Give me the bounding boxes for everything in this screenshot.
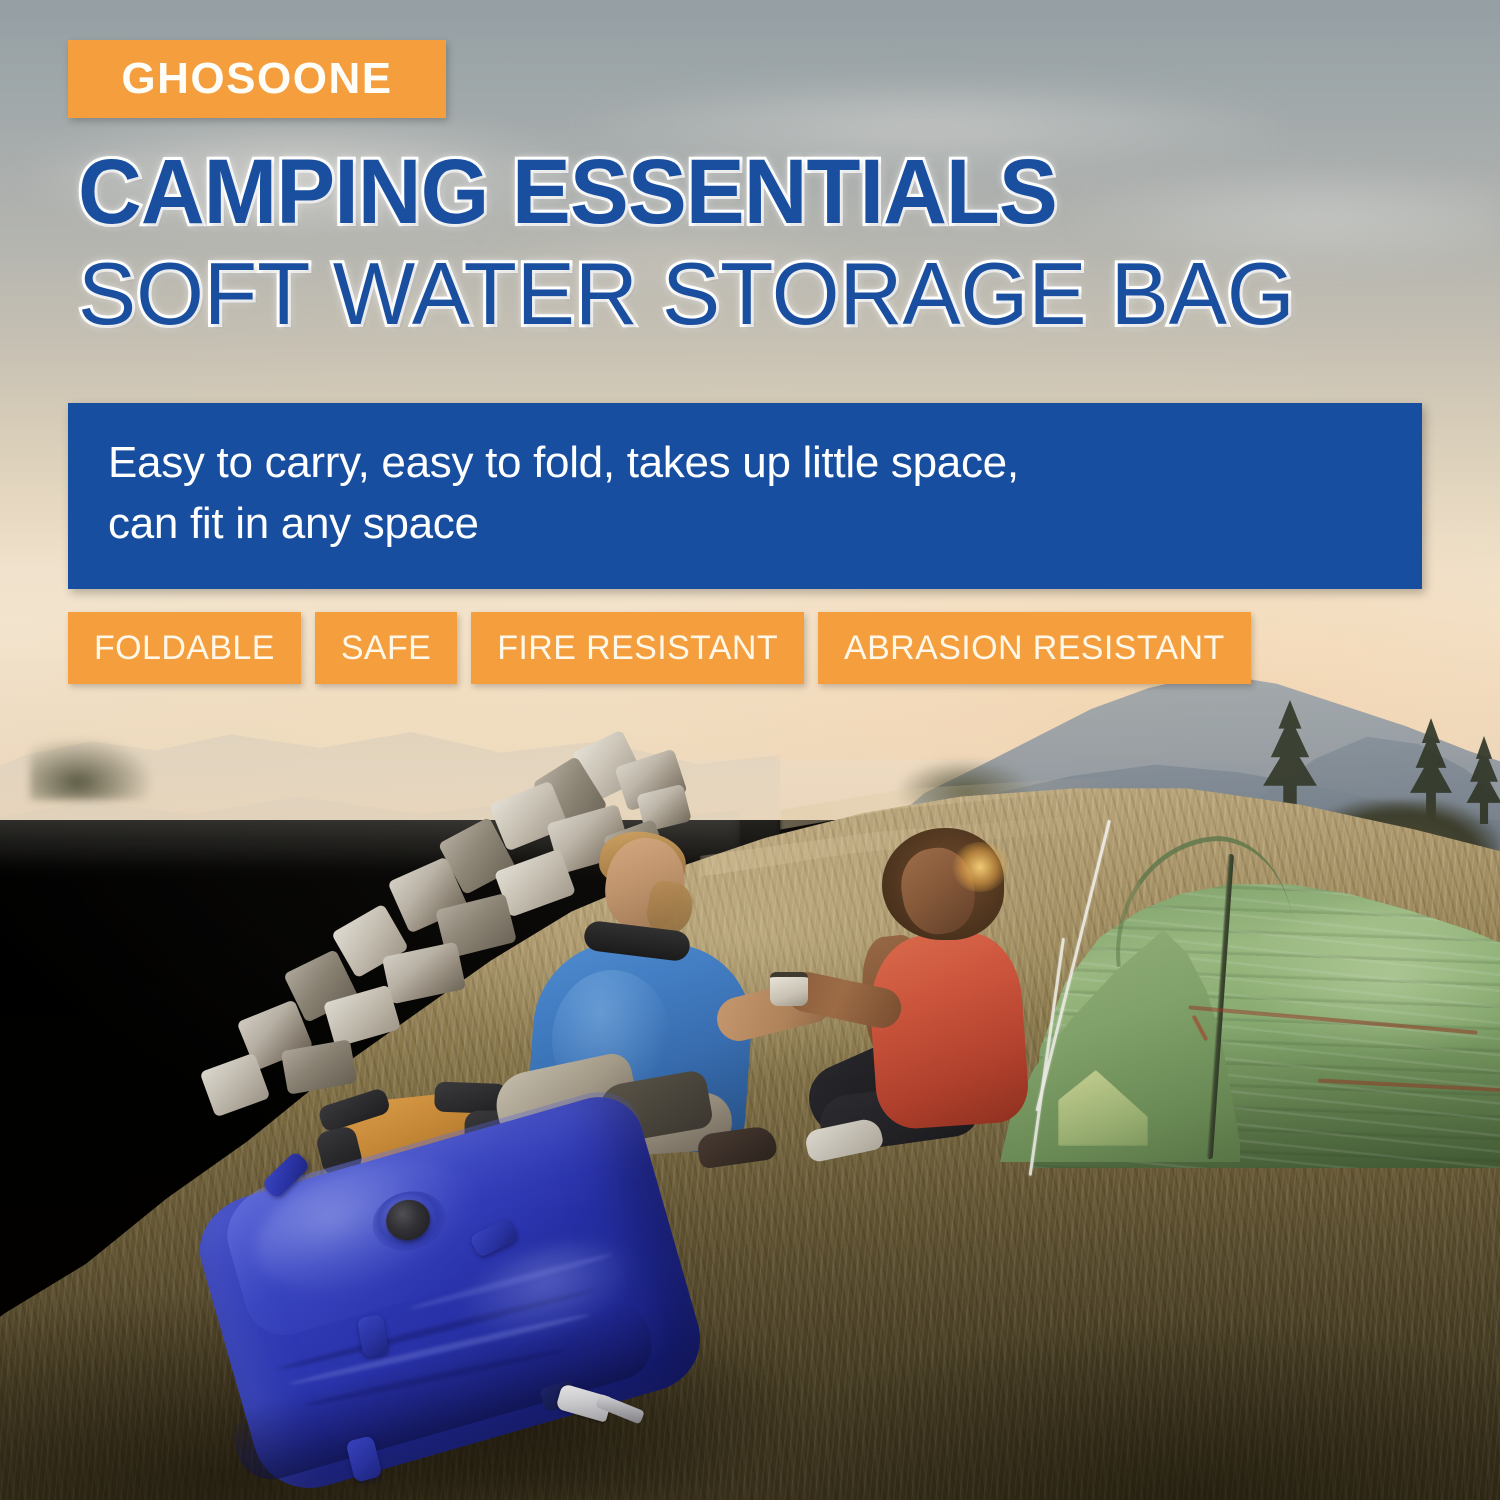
feature-tag-label: FIRE RESISTANT [497, 629, 778, 668]
feature-tag-list: FOLDABLE SAFE FIRE RESISTANT ABRASION RE… [68, 612, 1251, 684]
headline-block: CAMPING ESSENTIALS SOFT WATER STORAGE BA… [78, 146, 1418, 338]
feature-tag-label: ABRASION RESISTANT [844, 629, 1225, 668]
headline-line-2: SOFT WATER STORAGE BAG [78, 250, 1405, 338]
shrub-left [30, 740, 150, 800]
description-line-2: can fit in any space [108, 494, 1382, 555]
feature-tag-safe: SAFE [315, 612, 457, 684]
tent-arch-pole [1104, 829, 1296, 967]
description-line-1: Easy to carry, easy to fold, takes up li… [108, 433, 1382, 494]
water-storage-bag [210, 1138, 850, 1500]
cup-icon [770, 972, 808, 1006]
product-marketing-poster: GHOSOONE CAMPING ESSENTIALS SOFT WATER S… [0, 0, 1500, 1500]
headline-line-1: CAMPING ESSENTIALS [78, 146, 1364, 238]
sun-flare [952, 842, 1008, 892]
brand-name: GHOSOONE [121, 54, 392, 104]
camping-tent [1000, 812, 1500, 1202]
feature-tag-foldable: FOLDABLE [68, 612, 301, 684]
feature-tag-abrasion-resistant: ABRASION RESISTANT [818, 612, 1251, 684]
feature-tag-label: FOLDABLE [94, 629, 275, 668]
description-panel: Easy to carry, easy to fold, takes up li… [68, 403, 1422, 589]
feature-tag-fire-resistant: FIRE RESISTANT [471, 612, 804, 684]
brand-badge: GHOSOONE [68, 40, 446, 118]
feature-tag-label: SAFE [341, 629, 431, 668]
woman-torso [865, 929, 1030, 1131]
